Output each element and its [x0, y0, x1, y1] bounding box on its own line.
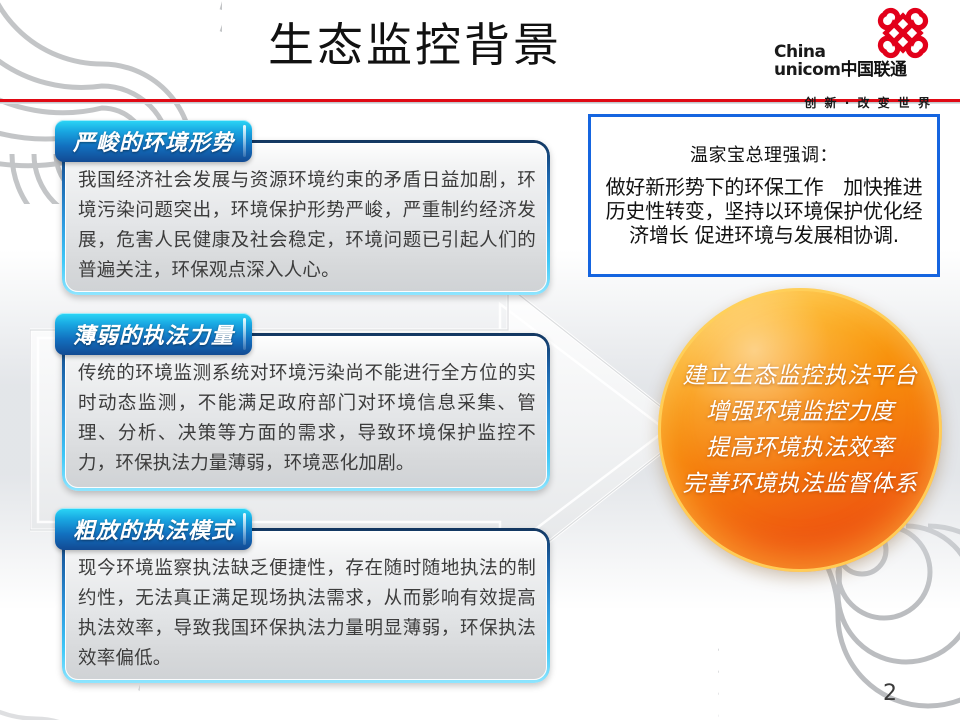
panel-tab-2[interactable]: 薄弱的执法力量 [55, 313, 252, 355]
panel-tab-label-1: 严峻的环境形势 [73, 125, 234, 157]
panel-tab-1[interactable]: 严峻的环境形势 [55, 120, 252, 162]
china-unicom-logo: China unicom中国联通 创 新 · 改 变 世 界 [762, 6, 948, 100]
info-panel-1: 我国经济社会发展与资源环境约束的矛盾日益加剧，环境污染问题突出，环境保护形势严峻… [62, 140, 550, 295]
unicom-wordmark: China unicom中国联通 [774, 44, 907, 79]
info-panel-3: 现今环境监察执法缺乏便捷性，存在随时随地执法的制约性，无法真正满足现场执法需求，… [62, 528, 550, 683]
panel-tab-label-3: 粗放的执法模式 [73, 513, 234, 545]
page-title: 生态监控背景 [0, 14, 830, 76]
sphere-line-1: 建立生态监控执法平台 [683, 359, 918, 393]
quote-box: 温家宝总理强调： 做好新形势下的环保工作 加快推进历史性转变，坚持以环境保护优化… [588, 114, 940, 277]
panel-tab-label-2: 薄弱的执法力量 [73, 318, 234, 350]
info-panel-2: 传统的环境监测系统对环境污染尚不能进行全方位的实时动态监测，不能满足政府部门对环… [62, 333, 550, 491]
panel-tab-3[interactable]: 粗放的执法模式 [55, 508, 252, 550]
quote-heading: 温家宝总理强调： [591, 141, 937, 167]
panel-body-1: 我国经济社会发展与资源环境约束的矛盾日益加剧，环境污染问题突出，环境保护形势严峻… [78, 166, 536, 286]
sphere-text: 建立生态监控执法平台 增强环境监控力度 提高环境执法效率 完善环境执法监督体系 [658, 288, 942, 572]
page-number: 2 [883, 681, 897, 706]
sphere-line-2: 增强环境监控力度 [706, 395, 894, 429]
quote-body: 做好新形势下的环保工作 加快推进历史性转变，坚持以环境保护优化经济增长 促进环境… [597, 175, 931, 247]
logo-line-1: China [774, 44, 907, 61]
sphere-line-4: 完善环境执法监督体系 [683, 467, 918, 501]
slide-header: 生态监控背景 China unicom中国联通 创 新 · 改 变 世 界 [0, 0, 960, 104]
panel-body-2: 传统的环境监测系统对环境污染尚不能进行全方位的实时动态监测，不能满足政府部门对环… [78, 359, 536, 479]
goal-sphere: 建立生态监控执法平台 增强环境监控力度 提高环境执法效率 完善环境执法监督体系 [658, 288, 942, 572]
panel-body-3: 现今环境监察执法缺乏便捷性，存在随时随地执法的制约性，无法真正满足现场执法需求，… [78, 554, 536, 674]
logo-tagline: 创 新 · 改 变 世 界 [804, 94, 932, 111]
logo-line-2: unicom中国联通 [774, 62, 907, 79]
sphere-line-3: 提高环境执法效率 [706, 431, 894, 465]
slide: 生态监控背景 China unicom中国联通 创 新 · 改 变 世 界 [0, 0, 960, 720]
